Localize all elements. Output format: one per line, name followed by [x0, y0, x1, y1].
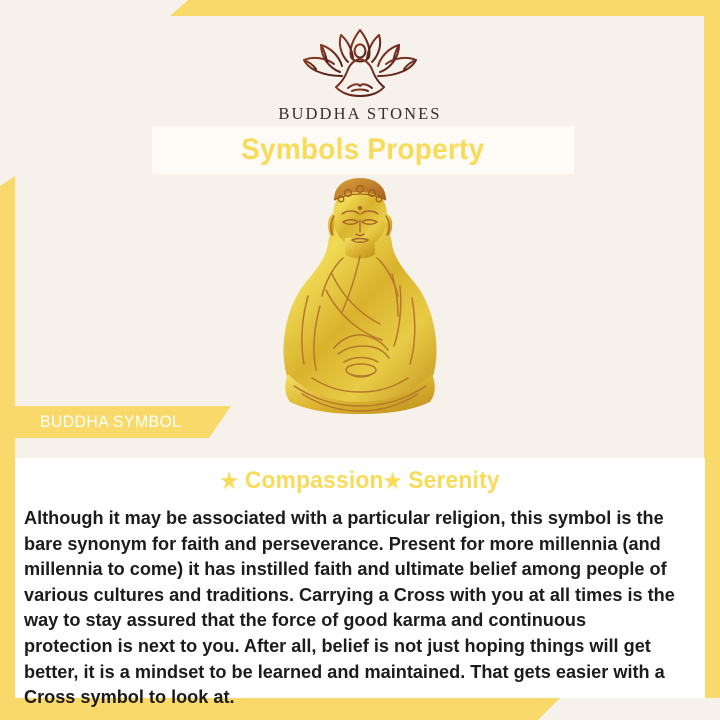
- hero-image: [0, 176, 720, 416]
- star-icon-two: ★: [384, 470, 402, 493]
- lotus-meditation-icon: [296, 26, 424, 98]
- star-icon-one: ★: [220, 470, 238, 493]
- brand-header: BUDDHA STONES: [0, 26, 720, 124]
- symbol-tag-label: BUDDHA SYMBOL: [40, 413, 181, 432]
- brand-name: BUDDHA STONES: [278, 104, 441, 124]
- symbol-tag: BUDDHA SYMBOL: [15, 406, 231, 438]
- headline-word-serenity: Serenity: [402, 467, 500, 494]
- content-body: Although it may be associated with a par…: [24, 505, 676, 710]
- top-accent-bar: [170, 0, 720, 16]
- page-title: Symbols Property: [241, 133, 484, 167]
- golden-seated-buddha-statue-icon: [272, 178, 448, 416]
- headline-word-compassion: Compassion: [238, 467, 383, 494]
- content-panel: ★ Compassion★ Serenity Although it may b…: [15, 458, 705, 698]
- title-banner: Symbols Property: [152, 126, 574, 174]
- content-headline: ★ Compassion★ Serenity: [32, 467, 688, 495]
- poster-root: BUDDHA STONES Symbols Property: [0, 0, 720, 720]
